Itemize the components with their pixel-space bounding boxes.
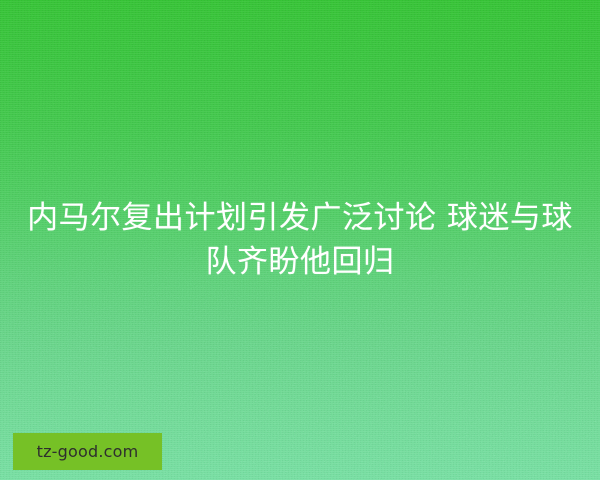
page-title: 内马尔复出计划引发广泛讨论 球迷与球队齐盼他回归 <box>0 196 600 284</box>
watermark-badge: tz-good.com <box>13 433 162 470</box>
watermark-label: tz-good.com <box>37 444 139 460</box>
cover-canvas: 内马尔复出计划引发广泛讨论 球迷与球队齐盼他回归 tz-good.com <box>0 0 600 480</box>
